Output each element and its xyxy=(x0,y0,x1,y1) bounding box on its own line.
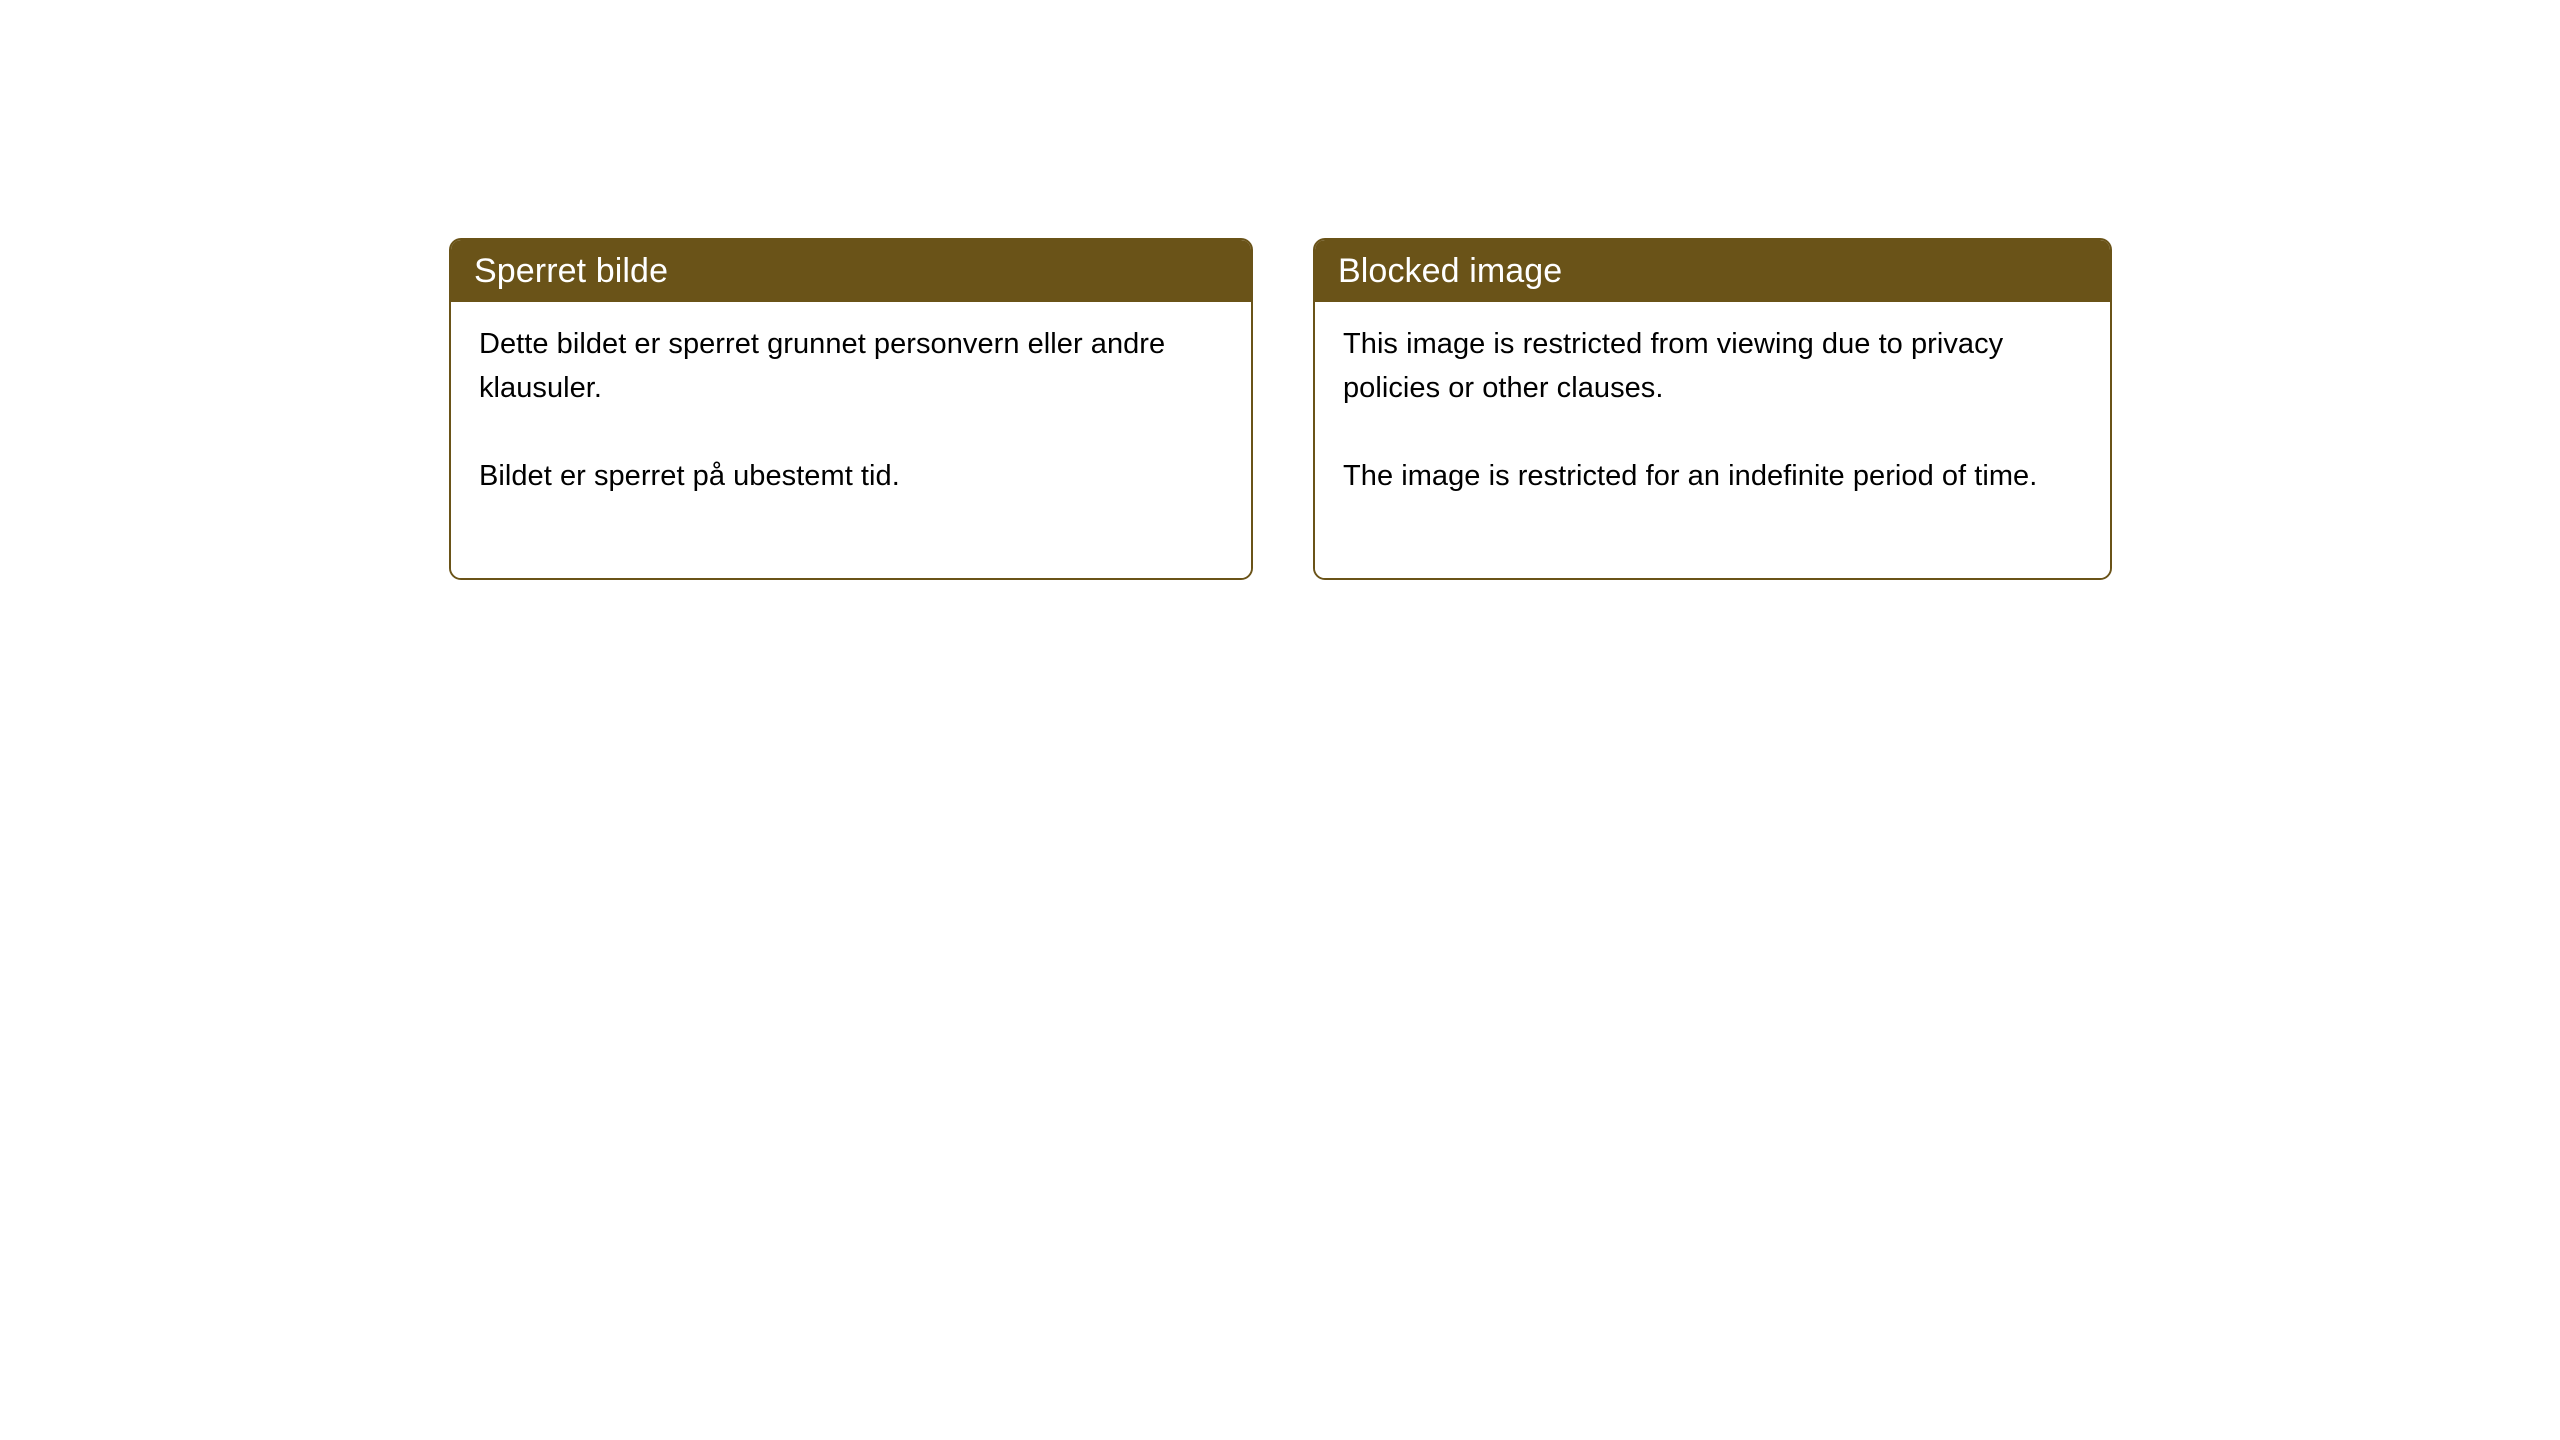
card-paragraph-primary-english: This image is restricted from viewing du… xyxy=(1343,322,2084,410)
blocked-image-notice-group: Sperret bilde Dette bildet er sperret gr… xyxy=(449,238,2112,580)
card-body-english: This image is restricted from viewing du… xyxy=(1315,302,2110,578)
card-title-norwegian: Sperret bilde xyxy=(474,251,668,291)
paragraph-spacer-english xyxy=(1343,410,2084,454)
card-paragraph-secondary-norwegian: Bildet er sperret på ubestemt tid. xyxy=(479,454,1225,498)
blocked-image-card-norwegian: Sperret bilde Dette bildet er sperret gr… xyxy=(449,238,1253,580)
blocked-image-card-english: Blocked image This image is restricted f… xyxy=(1313,238,2112,580)
card-paragraph-primary-norwegian: Dette bildet er sperret grunnet personve… xyxy=(479,322,1225,410)
card-body-norwegian: Dette bildet er sperret grunnet personve… xyxy=(451,302,1251,578)
paragraph-spacer-norwegian xyxy=(479,410,1225,454)
card-title-english: Blocked image xyxy=(1338,251,1562,291)
card-header-norwegian: Sperret bilde xyxy=(450,239,1252,302)
card-paragraph-secondary-english: The image is restricted for an indefinit… xyxy=(1343,454,2084,498)
card-header-english: Blocked image xyxy=(1314,239,2111,302)
